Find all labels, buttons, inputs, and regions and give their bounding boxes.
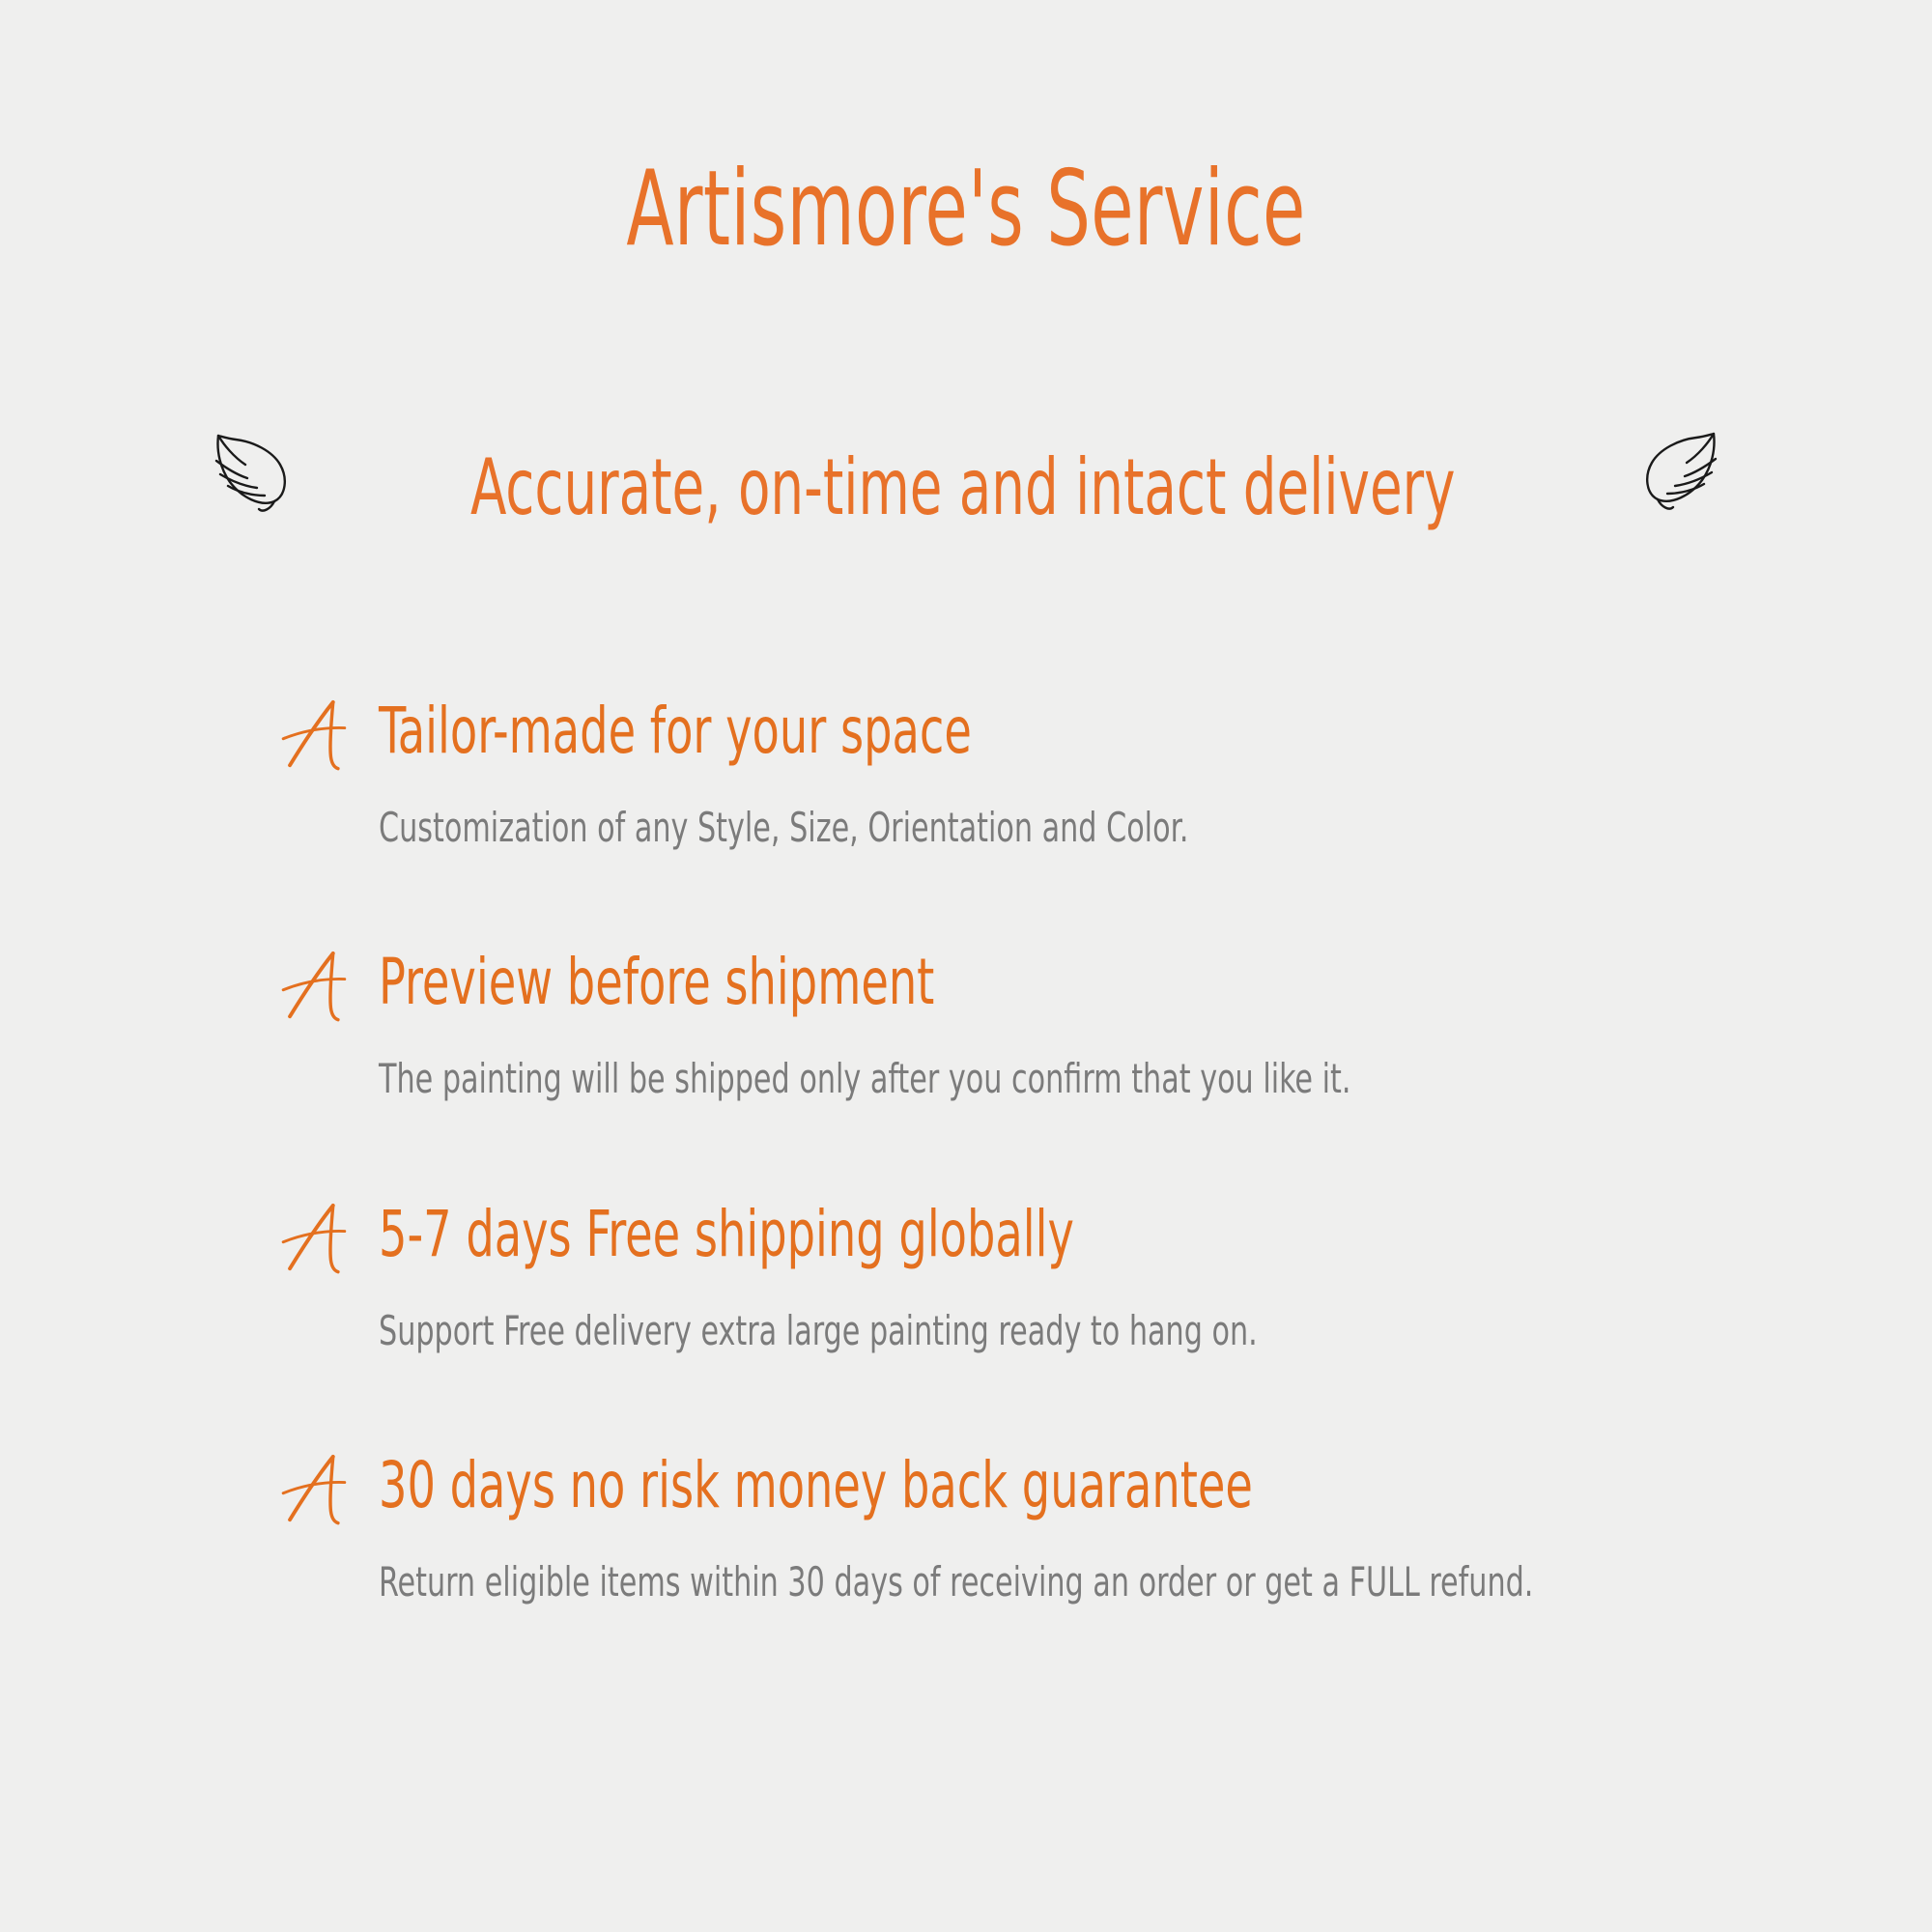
feature-item: Tailor-made for your space Customization…	[278, 694, 1862, 852]
feature-title: Preview before shipment	[379, 945, 934, 1014]
feature-heading-row: 30 days no risk money back guarantee	[278, 1448, 1862, 1533]
feature-heading-row: 5-7 days Free shipping globally	[278, 1197, 1862, 1282]
feature-description: Customization of any Style, Size, Orient…	[379, 804, 1566, 852]
feature-title: 30 days no risk money back guarantee	[379, 1448, 1253, 1518]
angel-wing-icon-right	[1625, 416, 1741, 532]
feature-description: Support Free delivery extra large painti…	[379, 1307, 1566, 1355]
feature-item: 5-7 days Free shipping globally Support …	[278, 1197, 1862, 1355]
feature-item: Preview before shipment The painting wil…	[278, 945, 1862, 1103]
script-a-bullet-icon	[278, 696, 361, 779]
subtitle-text: Accurate, on-time and intact delivery	[470, 449, 1455, 526]
feature-title: Tailor-made for your space	[379, 694, 972, 763]
subtitle-banner: Accurate, on-time and intact delivery	[0, 425, 1932, 551]
service-feature-list: Tailor-made for your space Customization…	[278, 694, 1862, 1607]
script-a-bullet-icon	[278, 947, 361, 1030]
feature-description: Return eligible items within 30 days of …	[379, 1558, 1566, 1606]
feature-title: 5-7 days Free shipping globally	[379, 1197, 1074, 1266]
page-title: Artismore's Service	[251, 155, 1681, 264]
script-a-bullet-icon	[278, 1199, 361, 1282]
script-a-bullet-icon	[278, 1450, 361, 1533]
service-info-page: Artismore's Service Accurate, on-time an…	[0, 0, 1932, 1932]
angel-wing-icon-left	[191, 418, 307, 534]
feature-heading-row: Preview before shipment	[278, 945, 1862, 1030]
feature-description: The painting will be shipped only after …	[379, 1055, 1566, 1103]
feature-item: 30 days no risk money back guarantee Ret…	[278, 1448, 1862, 1606]
feature-heading-row: Tailor-made for your space	[278, 694, 1862, 779]
